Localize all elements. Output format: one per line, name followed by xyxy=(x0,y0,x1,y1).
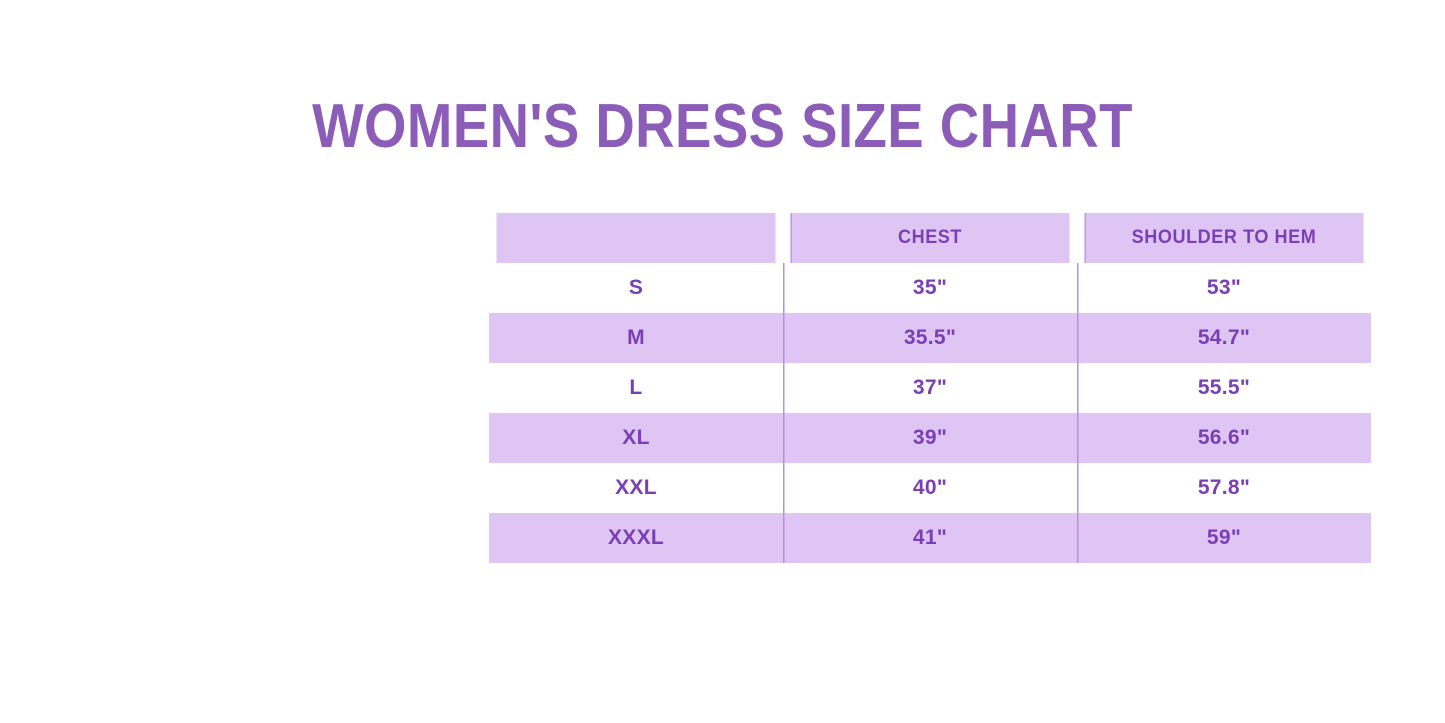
table-row: XXL 40" 57.8" xyxy=(489,463,1371,513)
cell-size: L xyxy=(489,363,783,413)
cell-size: XL xyxy=(489,413,783,463)
table-row: M 35.5" 54.7" xyxy=(489,313,1371,363)
cell-chest: 40" xyxy=(783,463,1077,513)
table-row: L 37" 55.5" xyxy=(489,363,1371,413)
cell-chest: 41" xyxy=(783,513,1077,563)
cell-shoulder-to-hem: 56.6" xyxy=(1077,413,1371,463)
table-row: S 35" 53" xyxy=(489,263,1371,313)
cell-chest: 39" xyxy=(783,413,1077,463)
column-header-chest: CHEST xyxy=(790,213,1069,263)
table-header-row: CHEST SHOULDER TO HEM xyxy=(489,213,1371,263)
cell-chest: 37" xyxy=(783,363,1077,413)
cell-chest: 35" xyxy=(783,263,1077,313)
cell-shoulder-to-hem: 55.5" xyxy=(1077,363,1371,413)
table-body: S 35" 53" M 35.5" 54.7" L 37" 55.5" XL 3… xyxy=(489,263,1371,563)
cell-size: M xyxy=(489,313,783,363)
cell-shoulder-to-hem: 57.8" xyxy=(1077,463,1371,513)
cell-size: XXXL xyxy=(489,513,783,563)
column-header-size xyxy=(496,213,775,263)
cell-shoulder-to-hem: 59" xyxy=(1077,513,1371,563)
cell-size: XXL xyxy=(489,463,783,513)
table-row: XL 39" 56.6" xyxy=(489,413,1371,463)
page-title: WOMEN'S DRESS SIZE CHART xyxy=(87,92,1359,162)
cell-shoulder-to-hem: 53" xyxy=(1077,263,1371,313)
cell-shoulder-to-hem: 54.7" xyxy=(1077,313,1371,363)
table-row: XXXL 41" 59" xyxy=(489,513,1371,563)
size-chart-table: CHEST SHOULDER TO HEM S 35" 53" M 35.5" … xyxy=(489,213,1371,563)
cell-chest: 35.5" xyxy=(783,313,1077,363)
cell-size: S xyxy=(489,263,783,313)
table-header: CHEST SHOULDER TO HEM xyxy=(489,213,1371,263)
column-header-shoulder-to-hem: SHOULDER TO HEM xyxy=(1084,213,1363,263)
